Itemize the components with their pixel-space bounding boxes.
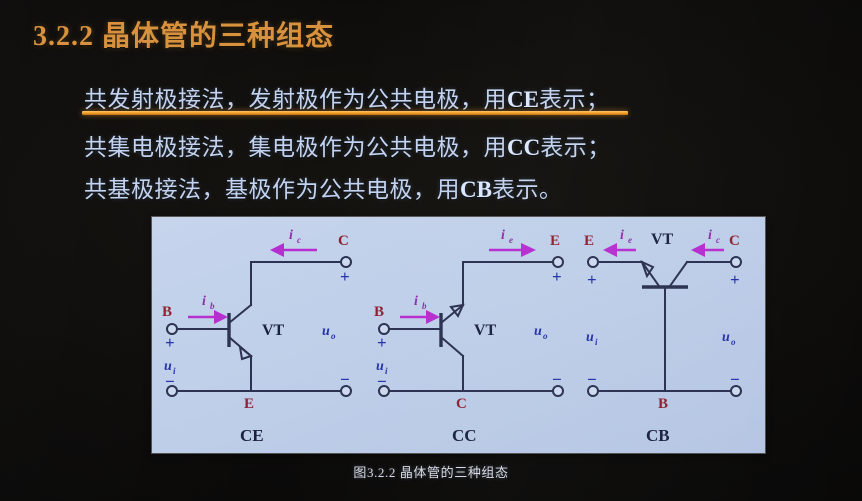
polarity-plus-out-cc: +: [552, 267, 562, 286]
label-mode-cb: CB: [646, 426, 670, 445]
label-voltage-uo-sub-cb: o: [731, 337, 736, 347]
orange-underline: [82, 111, 628, 115]
label-current-ie-cb: i: [620, 228, 624, 243]
line-1-emphasis: CE: [507, 87, 539, 112]
circuit-cb: E C B VT i e i c + u i − + u o − CB: [584, 228, 741, 445]
label-voltage-uo-ce: u: [322, 324, 330, 339]
current-arrow-ic-ce: [270, 243, 317, 257]
label-current-ic-sub-ce: c: [297, 235, 301, 245]
label-current-ib-ce: i: [202, 294, 206, 309]
label-device-vt-cc: VT: [474, 322, 497, 339]
line-2-emphasis: CC: [507, 135, 540, 160]
line-3-suffix: 表示。: [492, 177, 563, 202]
line-2-suffix: 表示；: [540, 135, 611, 160]
label-terminal-c-ce: C: [338, 233, 349, 249]
label-current-ie-sub-cc: e: [509, 235, 513, 245]
polarity-plus-in-cc: +: [377, 333, 387, 352]
bullet-line-common-base: 共基极接法，基极作为公共电极，用CB表示。: [84, 170, 562, 204]
label-voltage-ui-cb: u: [586, 330, 594, 345]
page-title: 3.2.2 晶体管的三种组态: [33, 14, 334, 54]
label-current-ib-sub-ce: b: [210, 301, 215, 311]
label-voltage-uo-cb: u: [722, 330, 730, 345]
label-mode-cc: CC: [452, 426, 477, 445]
label-current-ic-sub-cb: c: [716, 235, 720, 245]
polarity-minus-out-ce: −: [340, 370, 350, 389]
label-mode-ce: CE: [240, 426, 264, 445]
polarity-plus-in-cb: +: [587, 270, 597, 289]
label-current-ib-cc: i: [414, 294, 418, 309]
line-1-suffix: 表示；: [539, 87, 610, 112]
polarity-plus-out-ce: +: [340, 267, 350, 286]
label-device-vt-ce: VT: [262, 322, 285, 339]
figure-caption: 图3.2.2 晶体管的三种组态: [0, 462, 862, 481]
polarity-minus-in-cb: −: [587, 370, 597, 389]
label-current-ic-ce: i: [289, 228, 293, 243]
label-terminal-c-cc: C: [456, 396, 467, 412]
label-terminal-c-cb: C: [729, 233, 740, 249]
current-arrow-ic-cb: [691, 243, 724, 257]
terminal-node-c-cb: [731, 257, 741, 267]
label-current-ie-sub-cb: e: [628, 235, 632, 245]
terminal-node-c-ce: [341, 257, 351, 267]
line-1-prefix: 共发射极接法，发射极作为公共电极，用: [84, 87, 507, 112]
circuit-cc: B E C VT i b i e + u i − + u o − CC: [374, 228, 563, 445]
label-current-ie-cc: i: [501, 228, 505, 243]
bullet-line-common-collector: 共集电极接法，集电极作为公共电极，用CC表示；: [84, 128, 611, 162]
label-voltage-uo-cc: u: [534, 324, 542, 339]
label-terminal-b-cb: B: [658, 396, 668, 412]
line-3-emphasis: CB: [460, 177, 492, 202]
polarity-plus-in-ce: +: [165, 333, 175, 352]
polarity-plus-out-cb: +: [730, 270, 740, 289]
terminal-node-e-cb: [588, 257, 598, 267]
circuit-ce: B C E VT i b i c + u i − + u o − CE: [162, 228, 351, 445]
line-3-prefix: 共基极接法，基极作为公共电极，用: [84, 177, 460, 202]
current-arrow-ib-ce: [188, 310, 228, 324]
label-voltage-uo-sub-cc: o: [543, 331, 548, 341]
figure-panel: B C E VT i b i c + u i − + u o − CE: [152, 217, 765, 453]
label-terminal-e-cc: E: [550, 233, 560, 249]
polarity-minus-in-cc: −: [377, 372, 387, 391]
polarity-minus-out-cb: −: [730, 370, 740, 389]
polarity-minus-out-cc: −: [552, 370, 562, 389]
label-current-ic-cb: i: [708, 228, 712, 243]
label-terminal-b-ce: B: [162, 304, 172, 320]
current-arrow-ib-cc: [400, 310, 440, 324]
label-voltage-uo-sub-ce: o: [331, 331, 336, 341]
current-arrow-ie-cc: [489, 243, 536, 257]
current-arrow-ie-cb: [603, 243, 636, 257]
terminal-node-e-cc: [553, 257, 563, 267]
label-terminal-b-cc: B: [374, 304, 384, 320]
polarity-minus-in-ce: −: [165, 372, 175, 391]
bullet-line-common-emitter: 共发射极接法，发射极作为公共电极，用CE表示；: [84, 80, 609, 114]
label-current-ib-sub-cc: b: [422, 301, 427, 311]
label-terminal-e-cb: E: [584, 233, 594, 249]
label-voltage-ui-sub-cb: i: [595, 337, 598, 347]
line-2-prefix: 共集电极接法，集电极作为公共电极，用: [84, 135, 507, 160]
label-device-vt-cb: VT: [651, 231, 674, 248]
label-terminal-e-ce: E: [244, 396, 254, 412]
